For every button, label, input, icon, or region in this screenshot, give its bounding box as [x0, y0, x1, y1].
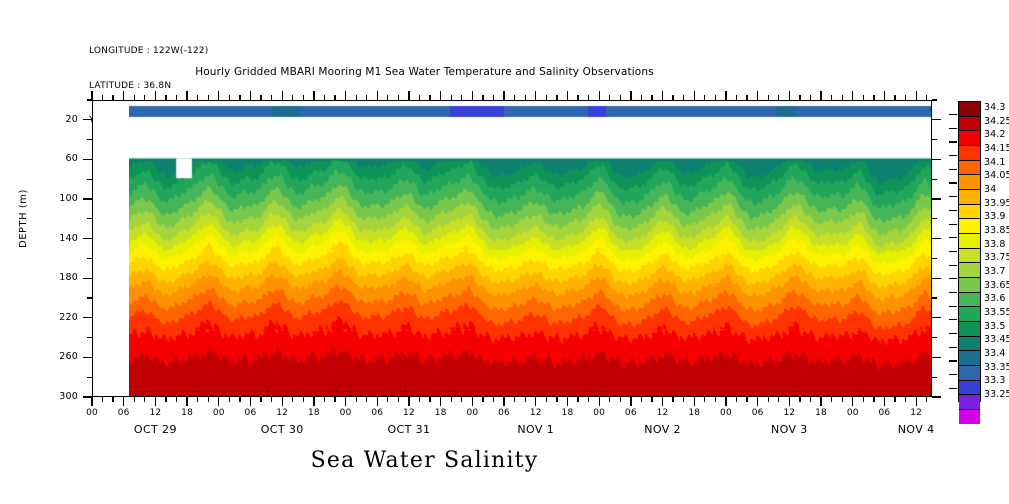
- y-axis-label: DEPTH (m): [18, 189, 29, 248]
- y-tick-major: [83, 238, 92, 239]
- colorbar-label: 33.85: [984, 225, 1009, 236]
- x-tick-major: [313, 91, 314, 100]
- colorbar-label: 34: [984, 184, 996, 195]
- x-tick-major: [155, 91, 156, 100]
- colorbar-band: [959, 248, 980, 263]
- x-tick-minor: [366, 397, 367, 402]
- x-tick-major: [757, 397, 758, 406]
- x-day-label: OCT 31: [349, 423, 469, 436]
- x-tick-major: [789, 91, 790, 100]
- colorbar-label: 33.3: [984, 375, 1006, 386]
- x-tick-major: [503, 397, 504, 406]
- colorbar-label: 33.25: [984, 389, 1009, 400]
- x-day-label: OCT 30: [222, 423, 342, 436]
- x-tick-major: [186, 397, 187, 406]
- x-tick-minor: [514, 95, 515, 100]
- x-tick-minor: [926, 95, 927, 100]
- x-tick-minor: [672, 397, 673, 402]
- colorbar-band: [959, 145, 980, 160]
- colorbar-tick: [949, 374, 957, 375]
- y-tick-major: [83, 159, 92, 160]
- x-tick-major: [884, 397, 885, 406]
- x-tick-minor: [620, 397, 621, 402]
- y-tick-minor: [932, 297, 937, 298]
- x-tick-minor: [144, 95, 145, 100]
- x-tick-minor: [387, 95, 388, 100]
- colorbar-band: [959, 321, 980, 336]
- x-tick-minor: [620, 95, 621, 100]
- colorbar-tick: [949, 210, 957, 211]
- y-tick-minor: [932, 139, 937, 140]
- x-tick-minor: [894, 95, 895, 100]
- x-tick-minor: [810, 95, 811, 100]
- colorbar-label: 34.1: [984, 157, 1006, 168]
- x-tick-minor: [366, 95, 367, 100]
- colorbar-label: 33.35: [984, 362, 1009, 373]
- colorbar-tick: [949, 155, 957, 156]
- colorbar-band: [959, 365, 980, 380]
- colorbar-band: [959, 292, 980, 307]
- colorbar-tick: [949, 114, 957, 115]
- x-tick-minor: [525, 95, 526, 100]
- x-tick-minor: [514, 397, 515, 402]
- x-tick-major: [313, 397, 314, 406]
- y-tick-minor: [932, 337, 937, 338]
- x-tick-minor: [292, 397, 293, 402]
- y-tick-minor: [87, 337, 92, 338]
- x-tick-minor: [641, 95, 642, 100]
- x-tick-minor: [609, 95, 610, 100]
- colorbar-label: 33.55: [984, 307, 1009, 318]
- x-tick-minor: [461, 397, 462, 402]
- colorbar-band: [959, 262, 980, 277]
- x-tick-major: [916, 91, 917, 100]
- colorbar-label: 34.2: [984, 129, 1006, 140]
- colorbar-tick: [949, 306, 957, 307]
- x-tick-minor: [768, 95, 769, 100]
- y-tick-major: [932, 238, 941, 239]
- x-tick-minor: [165, 95, 166, 100]
- x-tick-minor: [525, 397, 526, 402]
- x-tick-minor: [229, 95, 230, 100]
- x-tick-minor: [493, 95, 494, 100]
- y-tick-major: [932, 357, 941, 358]
- colorbar-label: 34.25: [984, 116, 1009, 127]
- x-tick-major: [186, 91, 187, 100]
- x-tick-minor: [429, 95, 430, 100]
- variable-title: Sea Water Salinity: [0, 448, 929, 473]
- x-day-label: NOV 4: [856, 423, 976, 436]
- x-tick-major: [123, 91, 124, 100]
- y-tick-minor: [932, 179, 937, 180]
- x-tick-major: [820, 91, 821, 100]
- x-tick-minor: [799, 95, 800, 100]
- x-tick-minor: [704, 95, 705, 100]
- x-tick-minor: [229, 397, 230, 402]
- colorbar-band: [959, 233, 980, 248]
- x-tick-minor: [134, 397, 135, 402]
- x-tick-major: [852, 91, 853, 100]
- x-tick-minor: [419, 95, 420, 100]
- x-day-label: OCT 29: [95, 423, 215, 436]
- x-tick-major: [472, 397, 473, 406]
- x-tick-major: [694, 91, 695, 100]
- y-tick-label: 260: [38, 351, 78, 362]
- colorbar-label: 34.3: [984, 102, 1006, 113]
- colorbar-label: 33.8: [984, 239, 1006, 250]
- x-tick-minor: [546, 95, 547, 100]
- x-tick-minor: [271, 95, 272, 100]
- x-tick-major: [567, 397, 568, 406]
- x-tick-minor: [165, 397, 166, 402]
- colorbar-band: [959, 394, 980, 409]
- x-tick-minor: [556, 397, 557, 402]
- x-tick-minor: [778, 95, 779, 100]
- x-tick-minor: [102, 397, 103, 402]
- x-tick-minor: [672, 95, 673, 100]
- x-tick-major: [757, 91, 758, 100]
- colorbar-tick: [949, 237, 957, 238]
- x-tick-major: [218, 397, 219, 406]
- colorbar-label: 33.7: [984, 266, 1006, 277]
- colorbar-tick: [949, 292, 957, 293]
- colorbar-label: 33.95: [984, 198, 1009, 209]
- x-tick-minor: [112, 397, 113, 402]
- colorbar: [958, 101, 981, 402]
- x-tick-minor: [894, 397, 895, 402]
- colorbar-label: 33.6: [984, 293, 1006, 304]
- colorbar-band: [959, 218, 980, 233]
- x-tick-major: [218, 91, 219, 100]
- y-tick-minor: [87, 218, 92, 219]
- x-tick-minor: [239, 397, 240, 402]
- x-tick-major: [916, 397, 917, 406]
- x-tick-major: [440, 397, 441, 406]
- x-tick-major: [599, 91, 600, 100]
- x-day-label: NOV 2: [603, 423, 723, 436]
- y-tick-major: [83, 317, 92, 318]
- colorbar-tick: [949, 196, 957, 197]
- x-tick-minor: [176, 95, 177, 100]
- x-tick-minor: [197, 397, 198, 402]
- latitude-text: LATITUDE : 36.8N: [89, 81, 209, 93]
- colorbar-band: [959, 116, 980, 131]
- colorbar-tick: [949, 319, 957, 320]
- y-tick-minor: [87, 139, 92, 140]
- x-tick-minor: [873, 95, 874, 100]
- colorbar-band: [959, 336, 980, 351]
- x-tick-major: [408, 397, 409, 406]
- x-tick-major: [535, 397, 536, 406]
- x-tick-major: [630, 91, 631, 100]
- x-tick-minor: [324, 95, 325, 100]
- x-tick-major: [725, 397, 726, 406]
- x-tick-minor: [831, 397, 832, 402]
- colorbar-tick: [949, 182, 957, 183]
- x-tick-major: [884, 91, 885, 100]
- x-tick-major: [852, 397, 853, 406]
- y-tick-major: [83, 119, 92, 120]
- x-tick-minor: [112, 95, 113, 100]
- colorbar-label: 33.75: [984, 252, 1009, 263]
- x-tick-minor: [334, 397, 335, 402]
- x-tick-minor: [799, 397, 800, 402]
- x-tick-major: [662, 397, 663, 406]
- colorbar-label: 34.05: [984, 170, 1009, 181]
- x-tick-major: [567, 91, 568, 100]
- y-tick-major: [932, 396, 941, 397]
- y-tick-label: 180: [38, 272, 78, 283]
- x-tick-major: [820, 397, 821, 406]
- x-tick-major: [440, 91, 441, 100]
- y-tick-label: 220: [38, 312, 78, 323]
- x-tick-major: [345, 397, 346, 406]
- x-tick-major: [789, 397, 790, 406]
- x-tick-minor: [239, 95, 240, 100]
- colorbar-band: [959, 409, 980, 424]
- x-tick-minor: [482, 397, 483, 402]
- y-tick-minor: [87, 258, 92, 259]
- x-tick-minor: [260, 95, 261, 100]
- x-tick-minor: [810, 397, 811, 402]
- y-tick-minor: [87, 179, 92, 180]
- x-tick-major: [345, 91, 346, 100]
- x-tick-minor: [588, 95, 589, 100]
- colorbar-band: [959, 306, 980, 321]
- longitude-text: LONGITUDE : 122W(-122): [89, 46, 209, 58]
- colorbar-tick: [949, 224, 957, 225]
- x-tick-minor: [197, 95, 198, 100]
- x-tick-minor: [176, 397, 177, 402]
- x-tick-minor: [292, 95, 293, 100]
- x-tick-minor: [926, 397, 927, 402]
- x-tick-minor: [451, 95, 452, 100]
- x-tick-major: [250, 91, 251, 100]
- x-tick-minor: [704, 397, 705, 402]
- y-tick-minor: [87, 377, 92, 378]
- x-tick-minor: [482, 95, 483, 100]
- y-tick-label: 100: [38, 193, 78, 204]
- x-tick-minor: [577, 95, 578, 100]
- x-tick-major: [91, 397, 92, 406]
- x-tick-minor: [398, 95, 399, 100]
- colorbar-label: 33.4: [984, 348, 1006, 359]
- colorbar-tick: [949, 347, 957, 348]
- y-tick-minor: [87, 99, 92, 100]
- y-tick-major: [83, 396, 92, 397]
- x-tick-minor: [493, 397, 494, 402]
- x-tick-minor: [546, 397, 547, 402]
- x-tick-major: [377, 91, 378, 100]
- colorbar-label: 33.9: [984, 211, 1006, 222]
- colorbar-label: 33.45: [984, 334, 1009, 345]
- x-tick-minor: [651, 95, 652, 100]
- x-tick-minor: [641, 397, 642, 402]
- x-tick-minor: [356, 95, 357, 100]
- y-tick-label: 20: [38, 114, 78, 125]
- x-tick-minor: [905, 95, 906, 100]
- colorbar-band: [959, 277, 980, 292]
- x-tick-minor: [778, 397, 779, 402]
- colorbar-tick: [949, 169, 957, 170]
- x-tick-minor: [863, 397, 864, 402]
- x-tick-major: [472, 91, 473, 100]
- colorbar-tick: [949, 251, 957, 252]
- x-tick-minor: [768, 397, 769, 402]
- x-tick-major: [535, 91, 536, 100]
- colorbar-tick: [949, 128, 957, 129]
- x-tick-minor: [387, 397, 388, 402]
- colorbar-band: [959, 204, 980, 219]
- x-tick-minor: [303, 397, 304, 402]
- colorbar-label: 33.65: [984, 280, 1009, 291]
- y-tick-major: [932, 159, 941, 160]
- x-tick-minor: [873, 397, 874, 402]
- y-tick-major: [932, 317, 941, 318]
- x-tick-major: [725, 91, 726, 100]
- x-tick-minor: [260, 397, 261, 402]
- x-tick-major: [503, 91, 504, 100]
- colorbar-label: 34.15: [984, 143, 1009, 154]
- x-tick-major: [599, 397, 600, 406]
- colorbar-tick: [949, 360, 957, 361]
- colorbar-band: [959, 102, 980, 116]
- y-tick-minor: [87, 297, 92, 298]
- colorbar-band: [959, 160, 980, 175]
- x-tick-minor: [208, 95, 209, 100]
- x-tick-minor: [609, 397, 610, 402]
- x-tick-minor: [746, 397, 747, 402]
- x-tick-minor: [303, 95, 304, 100]
- x-tick-label: 12: [896, 408, 936, 418]
- x-tick-minor: [461, 95, 462, 100]
- y-tick-label: 60: [38, 153, 78, 164]
- x-tick-major: [155, 397, 156, 406]
- colorbar-tick: [949, 388, 957, 389]
- x-tick-minor: [683, 397, 684, 402]
- x-tick-minor: [746, 95, 747, 100]
- x-tick-minor: [334, 95, 335, 100]
- plot-area: [92, 100, 932, 397]
- colorbar-band: [959, 380, 980, 395]
- y-tick-minor: [932, 218, 937, 219]
- x-tick-major: [123, 397, 124, 406]
- y-tick-minor: [932, 377, 937, 378]
- x-tick-minor: [736, 397, 737, 402]
- x-tick-minor: [208, 397, 209, 402]
- x-tick-minor: [842, 397, 843, 402]
- x-tick-major: [630, 397, 631, 406]
- y-tick-major: [83, 278, 92, 279]
- colorbar-label: 33.5: [984, 321, 1006, 332]
- x-tick-minor: [451, 397, 452, 402]
- y-tick-major: [932, 278, 941, 279]
- x-tick-minor: [102, 95, 103, 100]
- x-tick-minor: [398, 397, 399, 402]
- colorbar-tick: [949, 278, 957, 279]
- chart-title: Hourly Gridded MBARI Mooring M1 Sea Wate…: [0, 66, 929, 78]
- y-tick-major: [932, 119, 941, 120]
- x-day-label: NOV 3: [729, 423, 849, 436]
- x-tick-minor: [905, 397, 906, 402]
- y-tick-major: [932, 198, 941, 199]
- x-tick-minor: [651, 397, 652, 402]
- x-tick-major: [250, 397, 251, 406]
- x-tick-minor: [556, 95, 557, 100]
- x-tick-major: [662, 91, 663, 100]
- salinity-canvas: [129, 101, 931, 396]
- x-tick-minor: [324, 397, 325, 402]
- x-tick-minor: [736, 95, 737, 100]
- x-day-label: NOV 1: [476, 423, 596, 436]
- plot-clip: [93, 101, 931, 396]
- colorbar-tick: [949, 265, 957, 266]
- colorbar-tick: [949, 333, 957, 334]
- x-tick-minor: [683, 95, 684, 100]
- salinity-contour-field: [129, 101, 931, 396]
- x-tick-minor: [134, 95, 135, 100]
- y-tick-label: 300: [38, 391, 78, 402]
- colorbar-band: [959, 130, 980, 145]
- x-tick-major: [694, 397, 695, 406]
- x-tick-minor: [842, 95, 843, 100]
- x-tick-major: [282, 397, 283, 406]
- x-tick-minor: [715, 95, 716, 100]
- y-tick-major: [83, 357, 92, 358]
- x-tick-minor: [419, 397, 420, 402]
- x-tick-major: [282, 91, 283, 100]
- colorbar-tick: [949, 141, 957, 142]
- x-tick-minor: [429, 397, 430, 402]
- x-tick-minor: [144, 397, 145, 402]
- x-tick-major: [377, 397, 378, 406]
- x-tick-minor: [271, 397, 272, 402]
- x-tick-minor: [588, 397, 589, 402]
- y-tick-major: [83, 198, 92, 199]
- y-tick-label: 140: [38, 233, 78, 244]
- x-tick-minor: [831, 95, 832, 100]
- y-tick-minor: [932, 258, 937, 259]
- x-tick-minor: [356, 397, 357, 402]
- x-tick-major: [408, 91, 409, 100]
- y-tick-minor: [932, 99, 937, 100]
- colorbar-band: [959, 174, 980, 189]
- colorbar-band: [959, 189, 980, 204]
- x-tick-minor: [863, 95, 864, 100]
- colorbar-band: [959, 350, 980, 365]
- x-tick-minor: [577, 397, 578, 402]
- x-tick-minor: [715, 397, 716, 402]
